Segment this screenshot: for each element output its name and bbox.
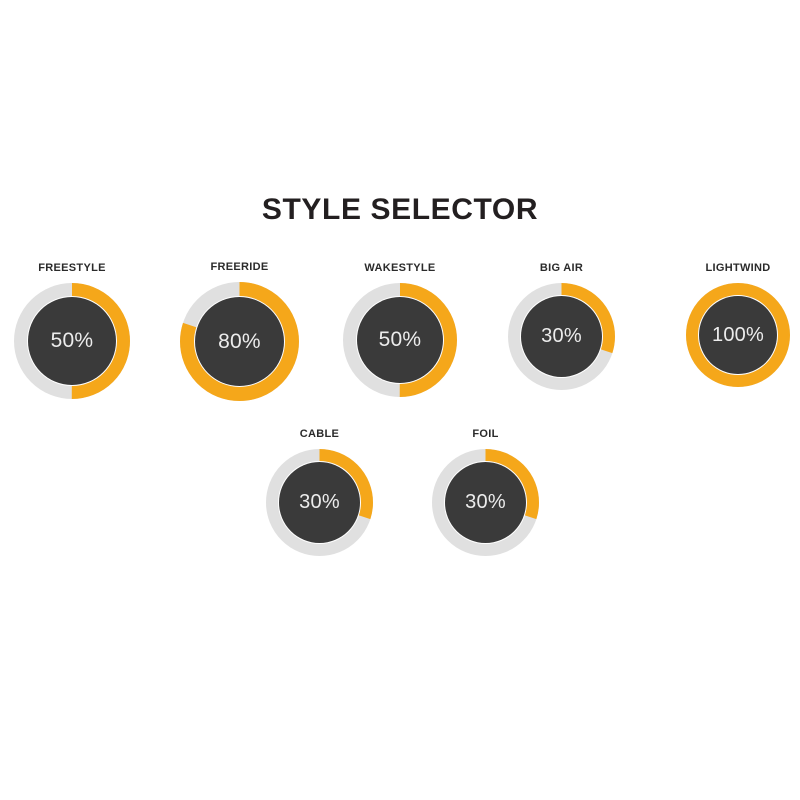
gauge-ring-lightwind[interactable]: 100% [686, 283, 790, 387]
gauge-label-foil: FOIL [472, 428, 498, 441]
gauge-lightwind[interactable]: LIGHTWIND100% [686, 262, 790, 387]
gauge-label-cable: CABLE [300, 428, 339, 441]
gauge-ring-cable[interactable]: 30% [266, 449, 373, 556]
gauge-ring-freestyle[interactable]: 50% [14, 283, 130, 399]
gauge-big-air[interactable]: BIG AIR30% [508, 262, 615, 390]
gauge-ring-foil[interactable]: 30% [432, 449, 539, 556]
gauge-wakestyle[interactable]: WAKESTYLE50% [343, 262, 457, 397]
gauge-hub-lightwind [699, 296, 777, 374]
gauge-hub-freestyle [28, 297, 116, 385]
gauge-ring-freeride[interactable]: 80% [180, 282, 299, 401]
gauge-cable[interactable]: CABLE30% [266, 428, 373, 556]
gauge-label-freestyle: FREESTYLE [38, 262, 106, 275]
gauge-label-big-air: BIG AIR [540, 262, 583, 275]
gauge-ring-big-air[interactable]: 30% [508, 283, 615, 390]
gauge-ring-wakestyle[interactable]: 50% [343, 283, 457, 397]
gauge-hub-cable [279, 462, 360, 543]
gauge-hub-foil [445, 462, 526, 543]
style-selector-page: STYLE SELECTOR FREESTYLE50%FREERIDE80%WA… [0, 0, 800, 800]
gauge-freestyle[interactable]: FREESTYLE50% [14, 262, 130, 399]
gauge-hub-freeride [195, 297, 284, 386]
gauge-grid: FREESTYLE50%FREERIDE80%WAKESTYLE50%BIG A… [0, 0, 800, 800]
gauge-label-freeride: FREERIDE [210, 261, 268, 274]
gauge-freeride[interactable]: FREERIDE80% [180, 261, 299, 401]
gauge-label-wakestyle: WAKESTYLE [364, 262, 435, 275]
gauge-label-lightwind: LIGHTWIND [705, 262, 770, 275]
gauge-foil[interactable]: FOIL30% [432, 428, 539, 556]
gauge-hub-wakestyle [357, 297, 443, 383]
gauge-hub-big-air [521, 296, 602, 377]
